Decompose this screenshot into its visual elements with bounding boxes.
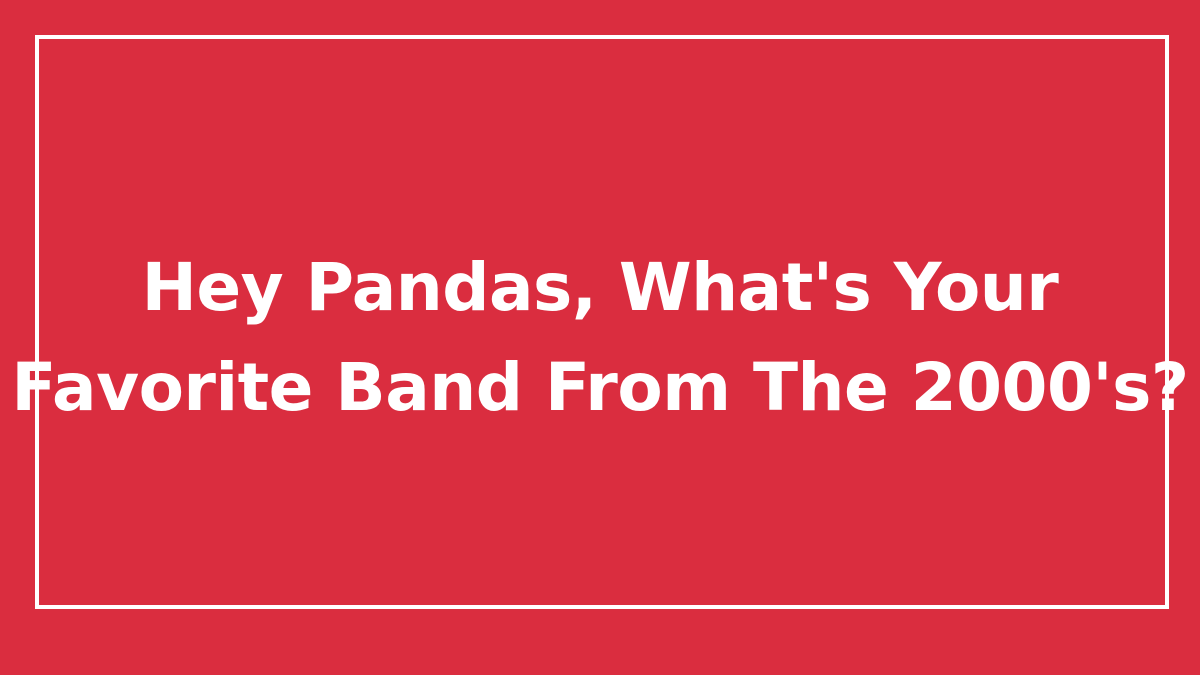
poster-canvas: Hey Pandas, What's Your Favorite Band Fr… xyxy=(0,0,1200,675)
headline-block: Hey Pandas, What's Your Favorite Band Fr… xyxy=(0,0,1200,675)
headline-line-1: Hey Pandas, What's Your xyxy=(142,238,1059,338)
headline-line-2: Favorite Band From The 2000's? xyxy=(11,338,1188,438)
